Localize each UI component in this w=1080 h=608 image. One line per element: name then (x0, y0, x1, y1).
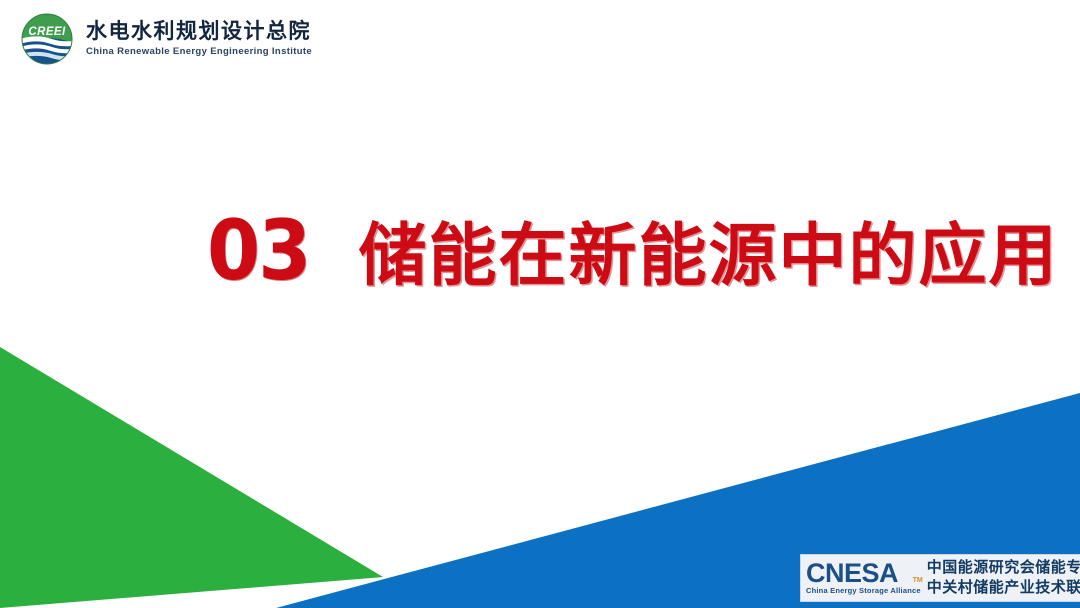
cnesa-wordmark-block: CNESA TM China Energy Storage Alliance (806, 557, 925, 599)
slide-canvas: CREEI 水电水利规划设计总院 China Renewable Energy … (0, 0, 1080, 608)
section-number: 03 (207, 209, 310, 292)
cnesa-wordmark-text: CNESA TM (806, 561, 921, 587)
section-title-row: 03 储能在新能源中的应用 (207, 209, 1059, 292)
org-name-en: China Renewable Energy Engineering Insti… (86, 46, 312, 58)
cnesa-alliance-en: China Energy Storage Alliance (806, 587, 921, 595)
background-shapes (0, 0, 1080, 608)
green-triangle-shape (0, 347, 383, 608)
cnesa-wordmark-label: CNESA (806, 558, 898, 588)
creei-circular-logo: CREEI (18, 10, 76, 68)
brand-text-block: 水电水利规划设计总院 China Renewable Energy Engine… (86, 20, 312, 57)
brand-lockup: CREEI 水电水利规划设计总院 China Renewable Energy … (18, 10, 312, 68)
cnesa-line1-cn: 中国能源研究会储能专委会 (927, 558, 1080, 578)
trademark-icon: TM (913, 578, 923, 585)
creei-monogram-text: CREEI (28, 26, 66, 38)
creei-logo-icon: CREEI (18, 10, 76, 68)
cnesa-line2-cn: 中关村储能产业技术联盟 (927, 578, 1080, 598)
org-name-cn: 水电水利规划设计总院 (86, 20, 312, 44)
cnesa-watermark: CNESA TM China Energy Storage Alliance 中… (800, 554, 1080, 602)
page-title: 储能在新能源中的应用 (359, 222, 1059, 290)
cnesa-chinese-block: 中国能源研究会储能专委会 中关村储能产业技术联盟 (927, 557, 1080, 599)
